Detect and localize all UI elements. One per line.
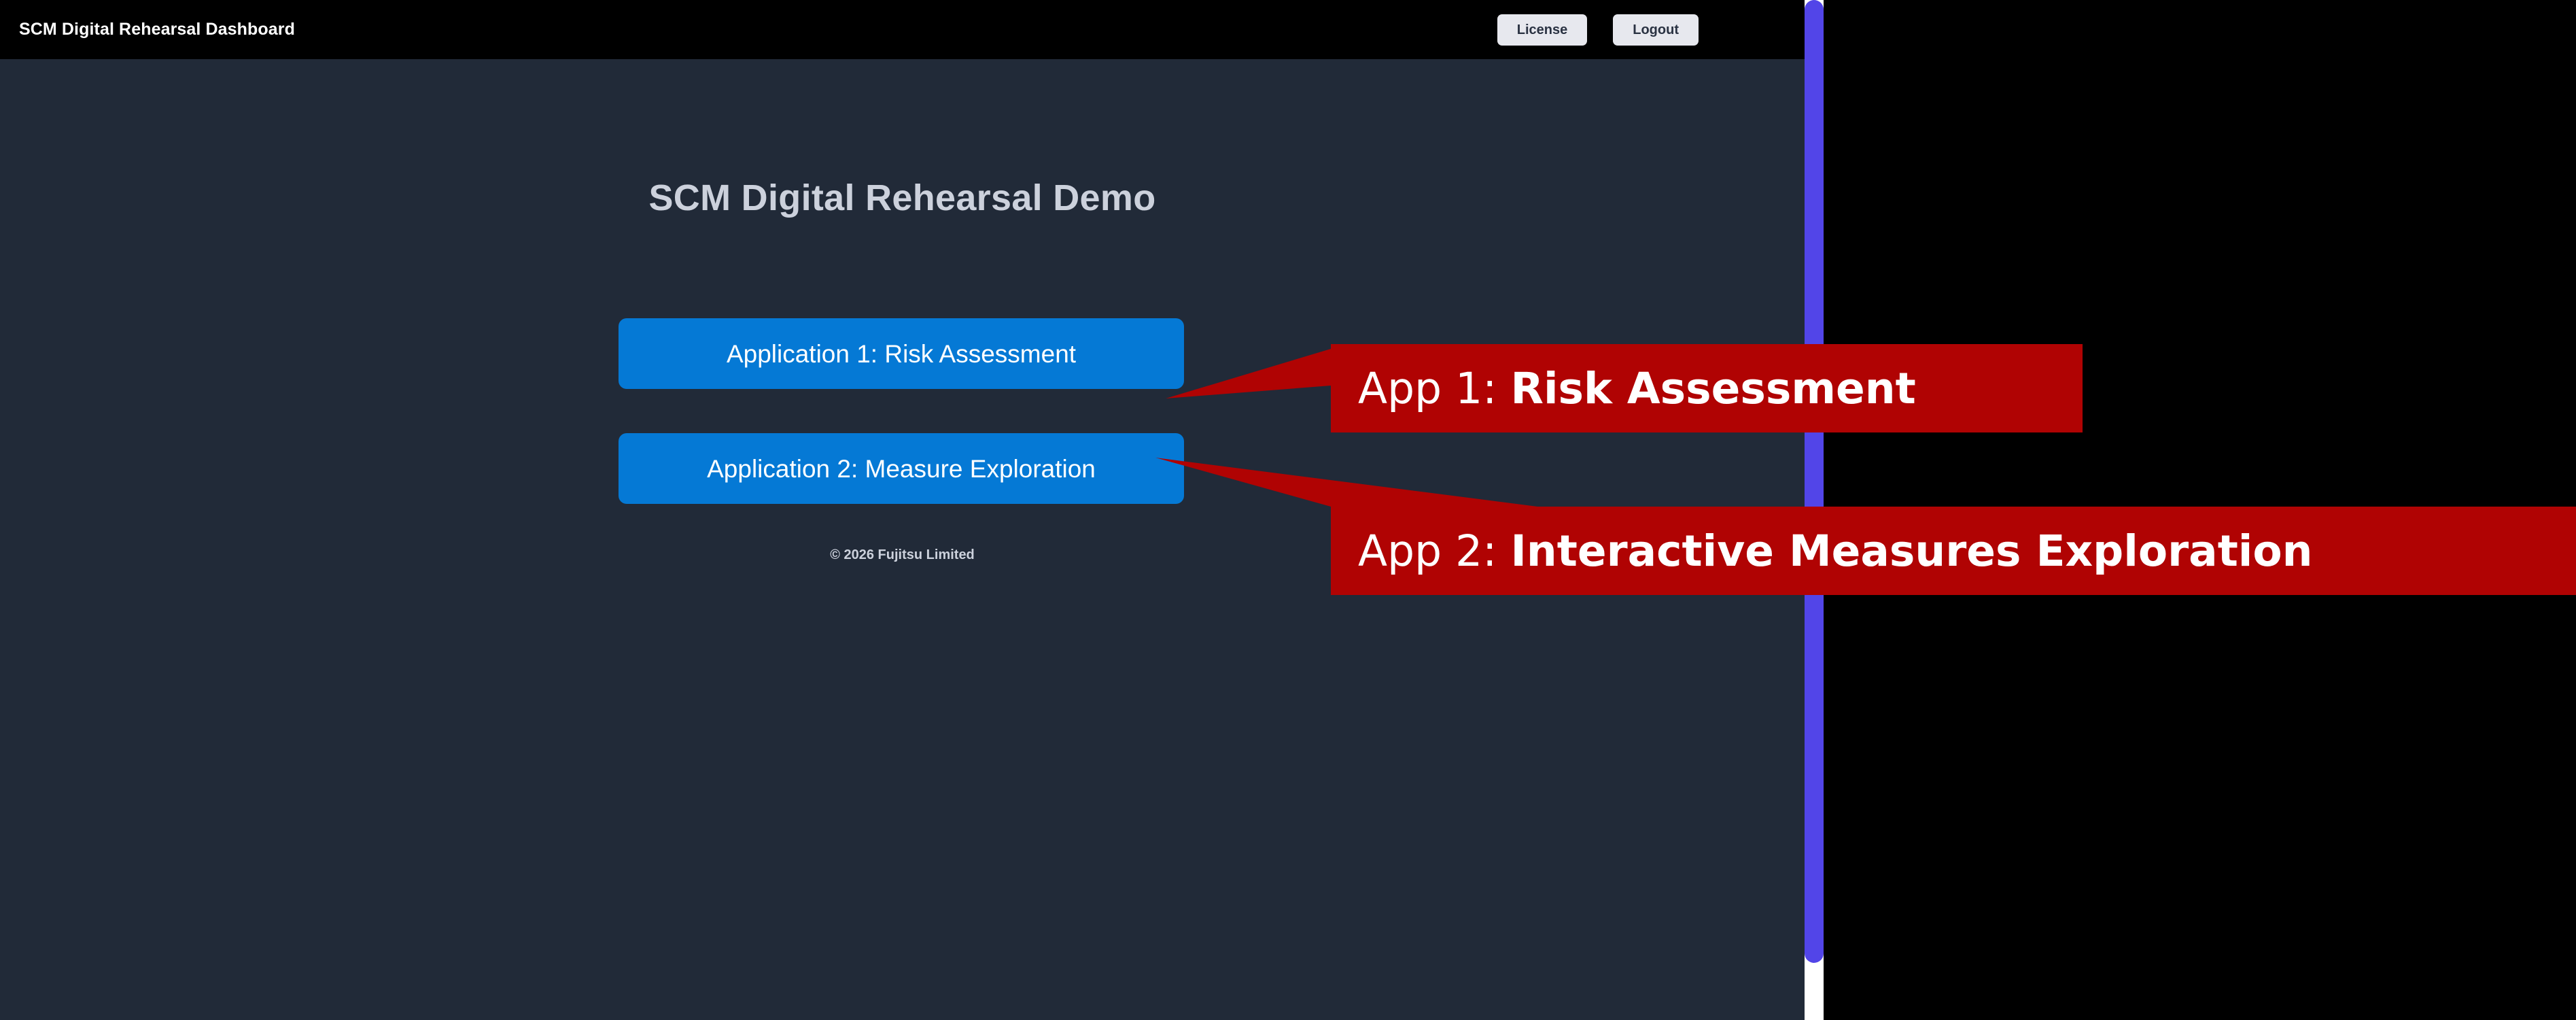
scrollbar-thumb[interactable] [1805, 0, 1824, 963]
application-1-risk-assessment-button[interactable]: Application 1: Risk Assessment [619, 318, 1184, 389]
brand-title: SCM Digital Rehearsal Dashboard [19, 20, 295, 39]
app-viewport: SCM Digital Rehearsal Dashboard License … [0, 0, 1805, 1020]
footer-copyright: © 2026 Fujitsu Limited [0, 547, 1805, 563]
logout-button[interactable]: Logout [1613, 14, 1699, 46]
application-2-measure-exploration-button[interactable]: Application 2: Measure Exploration [619, 433, 1184, 504]
topbar-actions: License Logout [1497, 14, 1699, 46]
page-title: SCM Digital Rehearsal Demo [0, 177, 1805, 219]
screenshot-root: SCM Digital Rehearsal Dashboard License … [0, 0, 2576, 1020]
main-content: SCM Digital Rehearsal Demo Application 1… [0, 59, 1805, 1020]
license-button[interactable]: License [1497, 14, 1587, 46]
top-navigation-bar: SCM Digital Rehearsal Dashboard License … [0, 0, 1805, 59]
